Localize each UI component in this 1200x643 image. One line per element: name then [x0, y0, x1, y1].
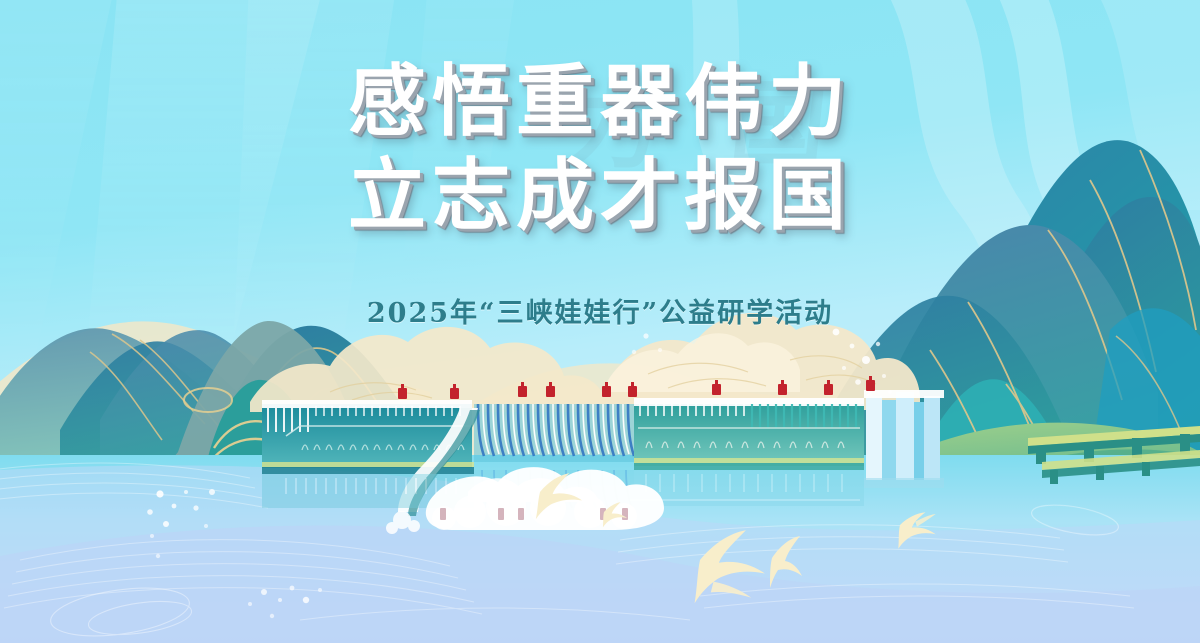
foreground-layer [0, 0, 1200, 643]
hillside-viaduct [1028, 426, 1200, 484]
poster-canvas: 力 国 感悟重器伟力 立志成才报国 2025年“三峡娃娃行”公益研学活动 [0, 0, 1200, 643]
flying-swallows [536, 473, 936, 603]
